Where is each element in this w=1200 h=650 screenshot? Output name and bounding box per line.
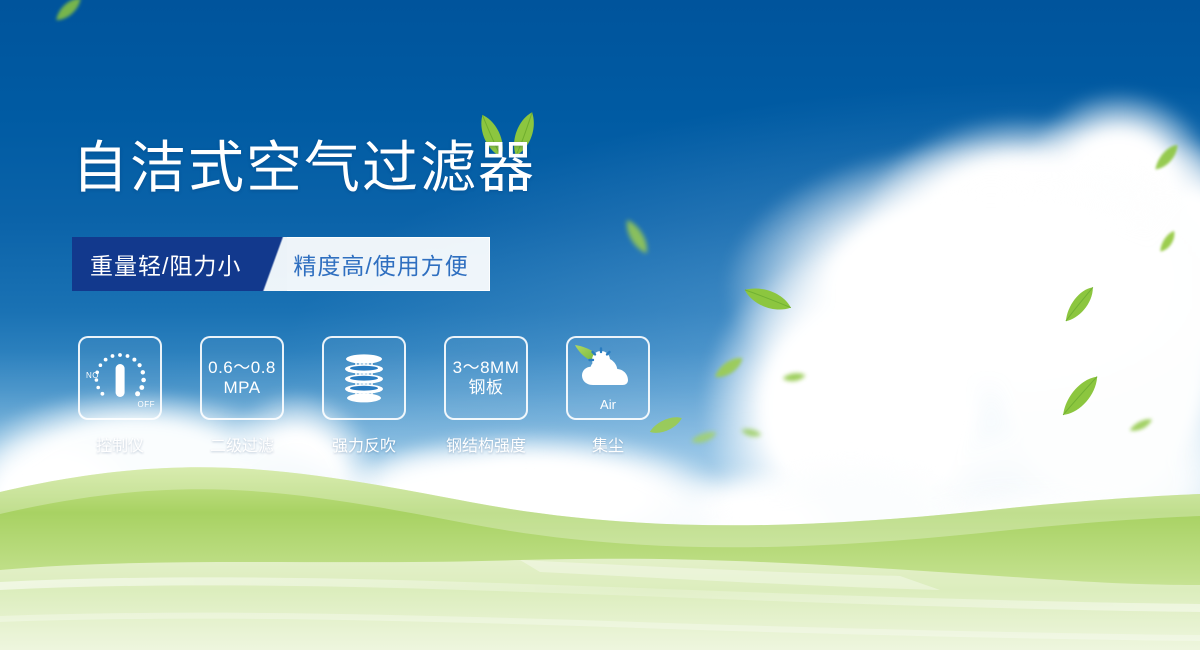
feature-item[interactable]: NO OFF 控制仪 xyxy=(72,336,168,456)
dial-off-label: OFF xyxy=(138,400,156,409)
feature-label: 强力反吹 xyxy=(332,432,396,456)
feature-item[interactable]: 强力反吹 xyxy=(316,336,412,456)
feature-item[interactable]: 3～8MM 钢板 钢结构强度 xyxy=(438,336,534,456)
feature-item[interactable]: 0.6～0.8 MPA 二级过滤 xyxy=(194,336,290,456)
pressure-unit: MPA xyxy=(208,378,276,398)
feature-label: 集尘 xyxy=(592,432,624,456)
feature-icon-box: NO OFF xyxy=(78,336,162,420)
tag-separator xyxy=(261,237,287,291)
feature-label: 控制仪 xyxy=(96,432,144,456)
feature-label: 钢结构强度 xyxy=(446,432,526,456)
feature-item[interactable]: Air 集尘 xyxy=(560,336,656,456)
grass-shape xyxy=(0,430,1200,650)
tag-secondary: 精度高/使用方便 xyxy=(287,237,489,291)
steel-thickness: 3～8MM xyxy=(453,358,520,377)
feature-list: NO OFF 控制仪 0.6～0.8 MPA 二级过滤 xyxy=(72,336,656,456)
pressure-value: 0.6～0.8 xyxy=(208,358,276,377)
feature-icon-box: 0.6～0.8 MPA xyxy=(200,336,284,420)
grass-field xyxy=(0,430,1200,650)
steel-plate-text-icon: 3～8MM 钢板 xyxy=(453,358,520,397)
steel-material: 钢板 xyxy=(453,378,520,398)
feature-icon-box: Air xyxy=(566,336,650,420)
promo-banner: 自洁式空气过滤器 重量轻/阻力小 精度高/使用方便 xyxy=(0,0,1200,650)
feature-icon-box xyxy=(322,336,406,420)
tag-primary: 重量轻/阻力小 xyxy=(72,237,261,291)
page-title: 自洁式空气过滤器 xyxy=(72,140,536,196)
subtitle-tag-bar: 重量轻/阻力小 精度高/使用方便 xyxy=(72,237,490,291)
filter-cartridge-icon xyxy=(335,349,393,407)
feature-icon-box: 3～8MM 钢板 xyxy=(444,336,528,420)
feature-label: 二级过滤 xyxy=(210,432,274,456)
dial-on-label: NO xyxy=(86,371,99,380)
air-label: Air xyxy=(568,397,648,412)
pressure-text-icon: 0.6～0.8 MPA xyxy=(208,358,276,397)
